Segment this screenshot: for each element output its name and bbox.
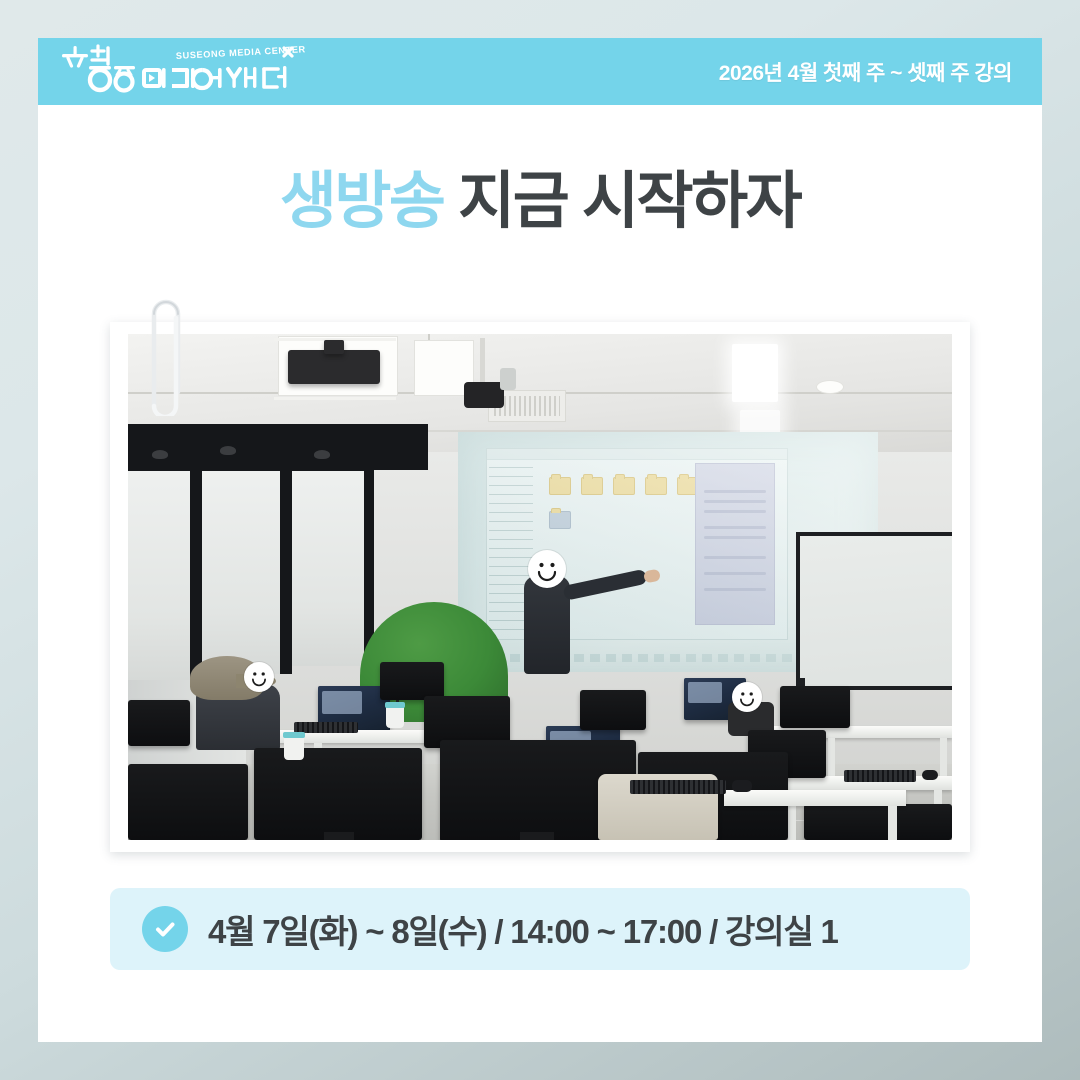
monitor (804, 804, 952, 840)
privacy-smiley-icon (528, 550, 566, 588)
classroom-photo (128, 334, 952, 840)
monitor (580, 690, 646, 730)
header-bar: SUSEONG MEDIA CENTER 2026년 4월 첫째 주 ~ 셋째 … (38, 38, 1042, 105)
check-circle-icon (142, 906, 188, 952)
monitor (254, 748, 422, 840)
schedule-info-bar: 4월 7일(화) ~ 8일(수) / 14:00 ~ 17:00 / 강의실 1 (110, 888, 970, 970)
monitor (780, 686, 850, 728)
ptz-camera (464, 382, 504, 408)
monitor (128, 700, 190, 746)
monitor (380, 662, 444, 700)
privacy-smiley-icon (732, 682, 762, 712)
ceiling-projector (288, 350, 380, 384)
poster-canvas: SUSEONG MEDIA CENTER 2026년 4월 첫째 주 ~ 셋째 … (0, 0, 1080, 1080)
schedule-info-text: 4월 7일(화) ~ 8일(수) / 14:00 ~ 17:00 / 강의실 1 (208, 905, 838, 953)
monitor (128, 764, 248, 840)
schedule-note: 2026년 4월 첫째 주 ~ 셋째 주 강의 (719, 38, 1012, 105)
whiteboard (796, 532, 952, 690)
page-title: 생방송 지금 시작하자 (38, 150, 1042, 240)
title-highlight: 생방송 (280, 167, 444, 236)
photo-frame (110, 322, 970, 852)
suseong-media-center-logo[interactable]: SUSEONG MEDIA CENTER (58, 42, 308, 102)
privacy-smiley-icon (244, 662, 274, 692)
title-rest: 지금 시작하자 (443, 167, 800, 236)
